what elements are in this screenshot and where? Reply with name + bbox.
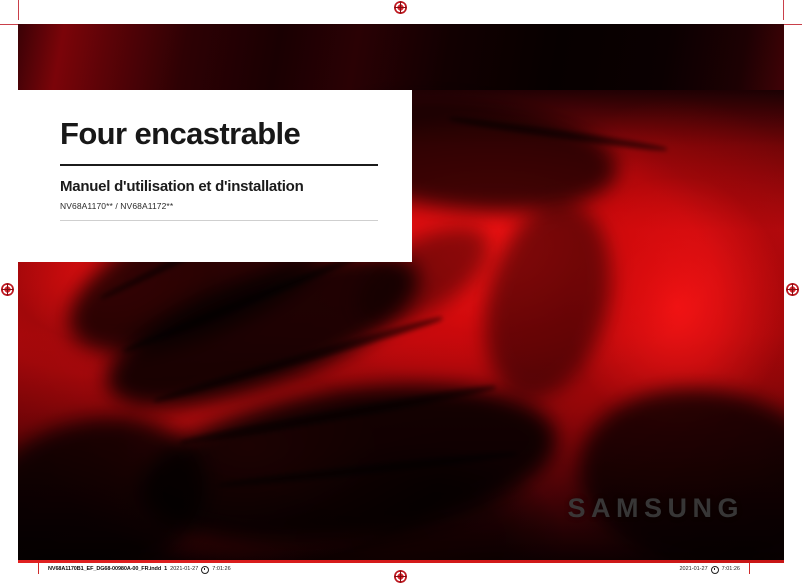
registration-target-icon-right [786,283,799,296]
page-number: 1 [164,566,167,572]
registration-target-icon-top [394,1,407,14]
print-proof-footer: NV68A1170B1_EF_DG68-00980A-00_FR.indd 1 … [0,560,802,587]
cover-photo-top-band [18,24,784,90]
crop-mark-top-right [783,0,784,20]
page-title: Four encastrable [60,118,382,151]
footer-left-group: NV68A1170B1_EF_DG68-00980A-00_FR.indd 1 … [38,564,231,575]
cover-title-card: Four encastrable Manuel d'utilisation et… [18,90,412,262]
proof-time: 7:01:26 [212,566,230,572]
bread-silhouette [466,188,631,411]
source-filename: NV68A1170B1_EF_DG68-00980A-00_FR.indd [48,566,161,572]
footer-right-group: 2021-01-27 7:01:26 [680,564,751,575]
proof-date-right: 2021-01-27 [680,566,708,572]
registration-target-icon-left [1,283,14,296]
proof-time-right: 7:01:26 [722,566,740,572]
manual-cover-artwork: Four encastrable Manuel d'utilisation et… [18,24,784,560]
crop-mark-right-top [782,24,802,25]
proof-date: 2021-01-27 [170,566,198,572]
bread-silhouette [18,395,224,560]
clock-icon [711,566,719,574]
model-codes: NV68A1170** / NV68A1172** [60,201,382,211]
crop-mark-top-left [18,0,19,20]
bread-silhouette [564,369,784,560]
samsung-logo: SAMSUNG [567,493,744,524]
clock-icon [201,566,209,574]
footer-tick-mark [749,563,750,574]
title-divider-light [60,220,378,221]
footer-tick-mark [38,563,39,574]
manual-subtitle: Manuel d'utilisation et d'installation [60,178,382,195]
crop-mark-left-top [0,24,20,25]
title-divider-heavy [60,164,378,166]
